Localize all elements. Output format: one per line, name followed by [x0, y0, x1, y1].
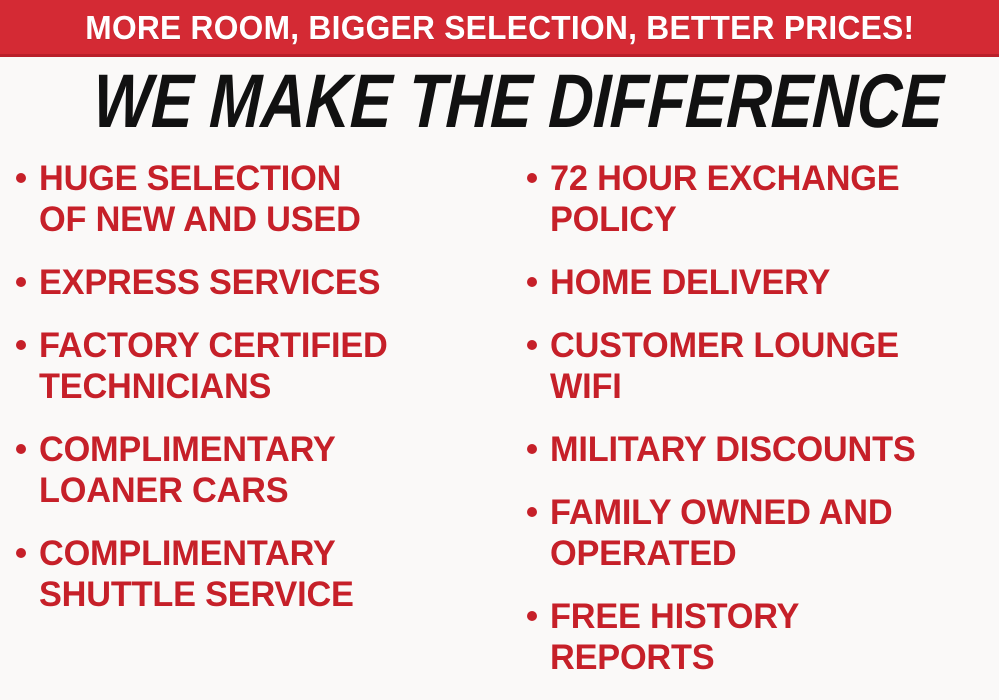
list-item: HOME DELIVERY — [521, 262, 995, 303]
list-item-label: HUGE SELECTION OF NEW AND USED — [39, 158, 490, 240]
list-item-label: COMPLIMENTARY LOANER CARS — [39, 429, 490, 511]
list-item: FACTORY CERTIFIED TECHNICIANS — [16, 325, 499, 407]
list-item: MILITARY DISCOUNTS — [521, 429, 995, 470]
list-item-label: HOME DELIVERY — [550, 262, 986, 303]
bullet-dot-icon — [16, 277, 26, 287]
bullet-dot-icon — [16, 444, 26, 454]
bullet-dot-icon — [527, 507, 537, 517]
list-item-label: FACTORY CERTIFIED TECHNICIANS — [39, 325, 490, 407]
bullet-dot-icon — [16, 340, 26, 350]
list-item: EXPRESS SERVICES — [16, 262, 499, 303]
bullet-dot-icon — [16, 173, 26, 183]
list-item: FREE HISTORY REPORTS — [521, 596, 995, 678]
list-item-label: FREE HISTORY REPORTS — [550, 596, 986, 678]
bullet-dot-icon — [527, 444, 537, 454]
benefits-column-right: 72 HOUR EXCHANGE POLICY HOME DELIVERY CU… — [505, 158, 999, 700]
bullet-dot-icon — [527, 173, 537, 183]
bullet-dot-icon — [527, 277, 537, 287]
list-item-label: CUSTOMER LOUNGE WIFI — [550, 325, 986, 407]
list-item-label: EXPRESS SERVICES — [39, 262, 490, 303]
main-headline: WE MAKE THE DIFFERENCE — [92, 66, 945, 138]
list-item: HUGE SELECTION OF NEW AND USED — [16, 158, 499, 240]
bullet-dot-icon — [16, 548, 26, 558]
benefits-columns: HUGE SELECTION OF NEW AND USED EXPRESS S… — [0, 158, 999, 692]
list-item-label: COMPLIMENTARY SHUTTLE SERVICE — [39, 533, 490, 615]
list-item: 72 HOUR EXCHANGE POLICY — [521, 158, 995, 240]
top-banner: MORE ROOM, BIGGER SELECTION, BETTER PRIC… — [0, 0, 999, 57]
list-item-label: MILITARY DISCOUNTS — [550, 429, 986, 470]
list-item: FAMILY OWNED AND OPERATED — [521, 492, 995, 574]
list-item-label: FAMILY OWNED AND OPERATED — [550, 492, 986, 574]
banner-headline: MORE ROOM, BIGGER SELECTION, BETTER PRIC… — [85, 11, 914, 44]
bullet-dot-icon — [527, 611, 537, 621]
main-headline-container: WE MAKE THE DIFFERENCE — [0, 66, 999, 138]
dealership-promo-graphic: MORE ROOM, BIGGER SELECTION, BETTER PRIC… — [0, 0, 999, 692]
bullet-dot-icon — [527, 340, 537, 350]
list-item: COMPLIMENTARY SHUTTLE SERVICE — [16, 533, 499, 615]
list-item: COMPLIMENTARY LOANER CARS — [16, 429, 499, 511]
list-item: CUSTOMER LOUNGE WIFI — [521, 325, 995, 407]
list-item-label: 72 HOUR EXCHANGE POLICY — [550, 158, 986, 240]
benefits-column-left: HUGE SELECTION OF NEW AND USED EXPRESS S… — [0, 158, 505, 637]
